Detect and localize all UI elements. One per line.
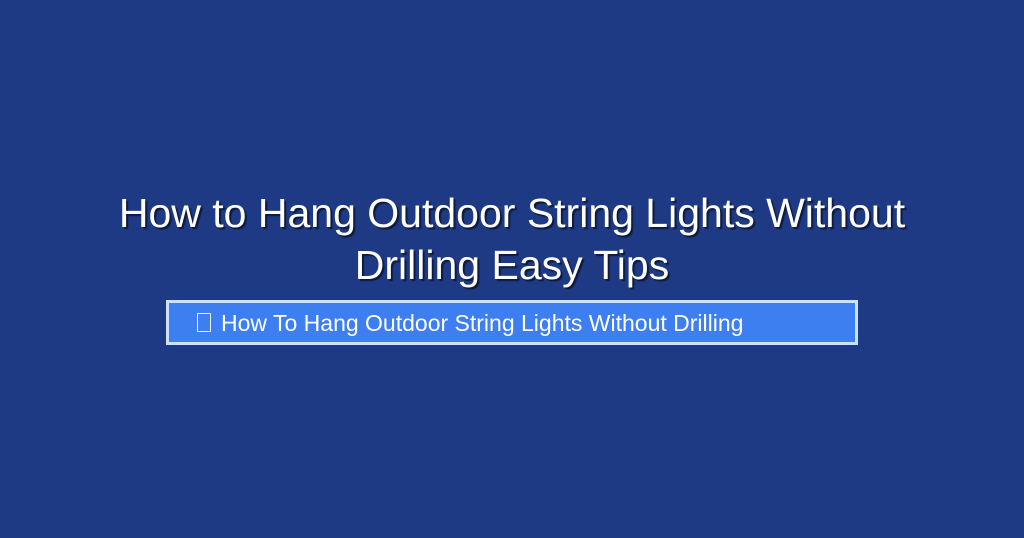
video-link-label: How To Hang Outdoor String Lights Withou… [221, 310, 743, 336]
video-link-container: How To Hang Outdoor String Lights Withou… [0, 300, 1024, 345]
missing-glyph-box-icon [197, 313, 211, 332]
slide-canvas: How to Hang Outdoor String Lights Withou… [0, 0, 1024, 538]
page-title: How to Hang Outdoor String Lights Withou… [0, 187, 1024, 291]
video-link-button[interactable]: How To Hang Outdoor String Lights Withou… [166, 300, 858, 345]
